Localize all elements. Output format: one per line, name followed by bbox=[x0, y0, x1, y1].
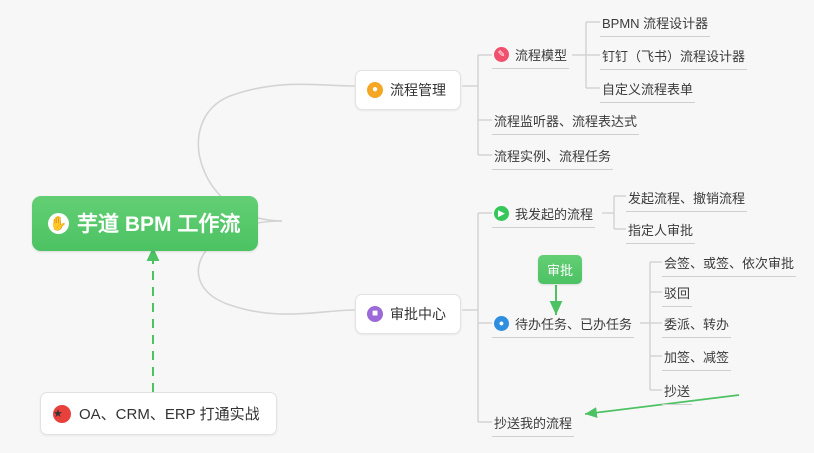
node-approval-center[interactable]: ■ 审批中心 bbox=[355, 294, 461, 334]
node-assign-approver[interactable]: 指定人审批 bbox=[626, 218, 695, 244]
node-label: 流程实例、流程任务 bbox=[494, 146, 611, 165]
node-integration-note[interactable]: ★ OA、CRM、ERP 打通实战 bbox=[40, 392, 277, 435]
node-bpmn-designer[interactable]: BPMN 流程设计器 bbox=[600, 11, 710, 37]
node-add-remove-sign[interactable]: 加签、减签 bbox=[662, 345, 731, 371]
node-custom-form[interactable]: 自定义流程表单 bbox=[600, 77, 695, 103]
node-label: 发起流程、撤销流程 bbox=[628, 188, 745, 207]
node-label: BPMN 流程设计器 bbox=[602, 13, 708, 32]
node-label: 流程模型 bbox=[515, 45, 567, 64]
node-instance-task[interactable]: 流程实例、流程任务 bbox=[492, 144, 613, 170]
root-node[interactable]: ✋ 芋道 BPM 工作流 bbox=[32, 196, 258, 251]
node-delegate-transfer[interactable]: 委派、转办 bbox=[662, 312, 731, 338]
root-label: 芋道 BPM 工作流 bbox=[77, 208, 240, 238]
pill-label: 审批 bbox=[547, 263, 573, 278]
pen-icon: ✎ bbox=[494, 47, 509, 62]
node-approval-pill[interactable]: 审批 bbox=[538, 255, 582, 284]
node-label: 钉钉（飞书）流程设计器 bbox=[602, 46, 745, 65]
node-label: 待办任务、已办任务 bbox=[515, 314, 632, 333]
node-label: 流程管理 bbox=[390, 80, 446, 100]
node-label: 审批中心 bbox=[390, 304, 446, 324]
node-label: 我发起的流程 bbox=[515, 204, 593, 223]
node-label: 委派、转办 bbox=[664, 314, 729, 333]
node-label: 驳回 bbox=[664, 283, 690, 302]
location-icon: ● bbox=[367, 82, 383, 98]
node-process-model[interactable]: ✎ 流程模型 bbox=[492, 43, 569, 69]
flag-icon: ▶ bbox=[494, 206, 509, 221]
check-icon: ● bbox=[494, 316, 509, 331]
mindmap-canvas: ✋ 芋道 BPM 工作流 ● 流程管理 ✎ 流程模型 BPMN 流程设计器 钉钉… bbox=[0, 0, 814, 453]
node-cc-to-me[interactable]: 抄送我的流程 bbox=[492, 411, 574, 437]
node-label: 抄送 bbox=[664, 381, 690, 400]
node-label: 指定人审批 bbox=[628, 220, 693, 239]
node-cc[interactable]: 抄送 bbox=[662, 379, 692, 405]
note-label: OA、CRM、ERP 打通实战 bbox=[79, 403, 260, 424]
node-dingtalk-designer[interactable]: 钉钉（飞书）流程设计器 bbox=[600, 44, 747, 70]
thumbs-up-icon: ✋ bbox=[48, 213, 69, 234]
node-listener-expression[interactable]: 流程监听器、流程表达式 bbox=[492, 109, 639, 135]
node-multi-approve[interactable]: 会签、或签、依次审批 bbox=[662, 251, 796, 277]
node-todo-done[interactable]: ● 待办任务、已办任务 bbox=[492, 312, 634, 338]
node-label: 抄送我的流程 bbox=[494, 413, 572, 432]
node-label: 流程监听器、流程表达式 bbox=[494, 111, 637, 130]
node-reject[interactable]: 驳回 bbox=[662, 281, 692, 307]
star-icon: ★ bbox=[53, 405, 71, 423]
node-label: 加签、减签 bbox=[664, 347, 729, 366]
node-start-cancel[interactable]: 发起流程、撤销流程 bbox=[626, 186, 747, 212]
node-label: 会签、或签、依次审批 bbox=[664, 253, 794, 272]
chat-icon: ■ bbox=[367, 306, 383, 322]
node-process-management[interactable]: ● 流程管理 bbox=[355, 70, 461, 110]
node-label: 自定义流程表单 bbox=[602, 79, 693, 98]
node-my-started[interactable]: ▶ 我发起的流程 bbox=[492, 202, 595, 228]
